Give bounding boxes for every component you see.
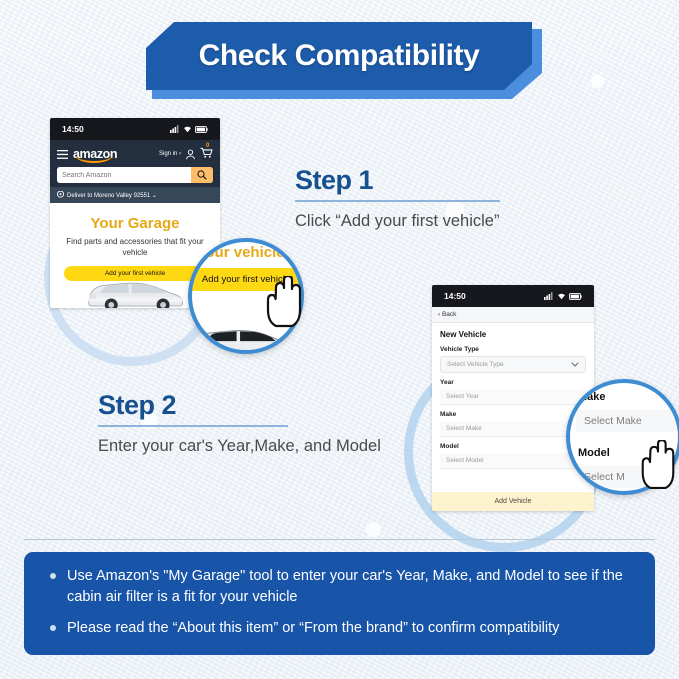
- step2-underline: [98, 425, 288, 427]
- tip-item: Please read the “About this item” or “Fr…: [46, 618, 633, 639]
- magnified-make-label: Make: [578, 391, 606, 403]
- cellular-signal-icon: [170, 125, 180, 133]
- battery-icon: [195, 126, 208, 133]
- battery-icon: [569, 293, 582, 300]
- phone-mockup-new-vehicle: 14:50 ‹ Back New Vehicle Vehicle Type Se…: [432, 285, 594, 511]
- pointing-hand-cursor-icon: [262, 276, 306, 328]
- location-pin-icon: [57, 191, 64, 199]
- amazon-nav-bar: amazon Sign in › 0: [50, 140, 220, 187]
- amazon-logo[interactable]: amazon: [73, 147, 117, 161]
- vehicle-type-value: Select Vehicle Type: [447, 361, 504, 368]
- step1-heading: Step 1: [295, 165, 595, 196]
- shopping-cart-icon[interactable]: 0: [200, 145, 213, 163]
- magnified-model-label: Model: [578, 447, 610, 459]
- bullet-dot-icon: [50, 625, 56, 631]
- phone2-status-bar: 14:50: [432, 285, 594, 307]
- vehicle-type-select[interactable]: Select Vehicle Type: [440, 356, 586, 373]
- magnified-garage-title: our vehicle: [188, 244, 304, 261]
- hamburger-menu-icon[interactable]: [57, 150, 68, 159]
- step2-block: Step 2 Enter your car's Year,Make, and M…: [98, 390, 398, 459]
- back-button[interactable]: ‹ Back: [432, 307, 594, 323]
- account-person-icon[interactable]: [185, 149, 196, 160]
- year-value: Select Year: [446, 393, 479, 400]
- amazon-smile-icon: [75, 155, 113, 163]
- page-title: Check Compatibility: [199, 39, 480, 73]
- make-select[interactable]: Select Make: [440, 421, 586, 437]
- chevron-down-icon: [571, 362, 579, 367]
- phone2-clock: 14:50: [444, 291, 466, 301]
- cart-count-badge: 0: [206, 143, 209, 149]
- phone1-status-bar: 14:50: [50, 118, 220, 140]
- pointing-hand-cursor-icon: [637, 440, 679, 490]
- add-vehicle-button[interactable]: Add Vehicle: [432, 492, 594, 511]
- step2-text: Enter your car's Year,Make, and Model: [98, 434, 398, 459]
- model-value: Select Model: [446, 457, 484, 464]
- tips-panel: Use Amazon's "My Garage" tool to enter y…: [24, 552, 655, 655]
- garage-subtitle: Find parts and accessories that fit your…: [58, 237, 212, 259]
- deliver-location-bar[interactable]: Deliver to Moreno Valley 92551 ⌄: [50, 187, 220, 203]
- search-icon: [197, 170, 207, 180]
- year-select[interactable]: Select Year: [440, 389, 586, 405]
- search-button[interactable]: [191, 167, 213, 183]
- banner-body: Check Compatibility: [146, 22, 532, 90]
- model-select[interactable]: Select Model: [440, 453, 586, 469]
- step1-text: Click “Add your first vehicle”: [295, 209, 595, 234]
- tip-text: Please read the “About this item” or “Fr…: [67, 618, 559, 639]
- search-bar[interactable]: [57, 167, 213, 183]
- step2-heading: Step 2: [98, 390, 398, 421]
- make-label: Make: [440, 411, 586, 418]
- form-title: New Vehicle: [440, 330, 586, 339]
- make-value: Select Make: [446, 425, 482, 432]
- phone1-clock: 14:50: [62, 124, 84, 134]
- tip-item: Use Amazon's "My Garage" tool to enter y…: [46, 566, 633, 608]
- header-banner: Check Compatibility: [146, 22, 536, 94]
- section-divider: [24, 539, 655, 540]
- suv-illustration: [81, 272, 189, 308]
- year-label: Year: [440, 379, 586, 386]
- step1-block: Step 1 Click “Add your first vehicle”: [295, 165, 595, 234]
- wifi-icon: [557, 292, 566, 300]
- vehicle-type-label: Vehicle Type: [440, 346, 586, 353]
- magnified-make-field[interactable]: Select Make: [576, 410, 676, 432]
- model-label: Model: [440, 443, 586, 450]
- tip-text: Use Amazon's "My Garage" tool to enter y…: [67, 566, 633, 608]
- garage-title: Your Garage: [58, 215, 212, 232]
- cellular-signal-icon: [544, 292, 554, 300]
- search-input[interactable]: [57, 167, 191, 183]
- deliver-location-text: Deliver to Moreno Valley 92551 ⌄: [67, 192, 157, 199]
- bullet-dot-icon: [50, 573, 56, 579]
- sign-in-link[interactable]: Sign in ›: [159, 151, 181, 157]
- step1-underline: [295, 200, 500, 202]
- wifi-icon: [183, 125, 192, 133]
